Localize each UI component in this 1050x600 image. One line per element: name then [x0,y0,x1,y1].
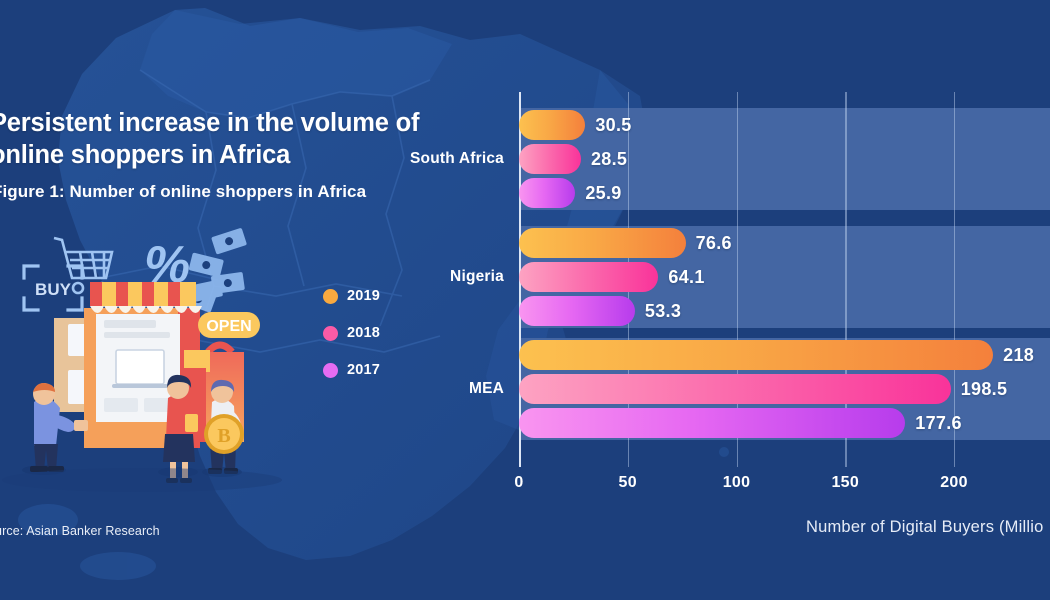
bar-value-label: 53.3 [645,301,681,322]
bar-value-label: 28.5 [591,149,627,170]
bar-mea-2017[interactable] [519,408,905,438]
bar-chart: 30.528.525.976.664.153.3218198.5177.6 So… [0,0,1050,600]
category-label-south-africa: South Africa [299,150,504,168]
bar-value-label: 25.9 [585,183,621,204]
infographic-root: Persistent increase in the volume of onl… [0,0,1050,600]
bar-mea-2018[interactable] [519,374,951,404]
bar-south-africa-2019[interactable] [519,110,585,140]
x-tick-100: 100 [723,474,751,492]
bar-value-label: 218 [1003,345,1034,366]
category-label-nigeria: Nigeria [299,268,504,286]
gridline-200 [954,92,955,467]
bar-mea-2019[interactable] [519,340,993,370]
bar-value-label: 64.1 [668,267,704,288]
bar-nigeria-2017[interactable] [519,296,635,326]
bar-nigeria-2019[interactable] [519,228,686,258]
bar-value-label: 30.5 [595,115,631,136]
bar-nigeria-2018[interactable] [519,262,658,292]
x-tick-0: 0 [514,474,523,492]
bar-value-label: 177.6 [915,413,962,434]
bar-south-africa-2017[interactable] [519,178,575,208]
x-tick-150: 150 [831,474,859,492]
bar-south-africa-2018[interactable] [519,144,581,174]
x-tick-200: 200 [940,474,968,492]
bar-value-label: 198.5 [961,379,1008,400]
x-tick-50: 50 [619,474,637,492]
category-label-mea: MEA [299,380,504,398]
x-axis-title: Number of Digital Buyers (Millio [806,518,1043,537]
bar-value-label: 76.6 [696,233,732,254]
